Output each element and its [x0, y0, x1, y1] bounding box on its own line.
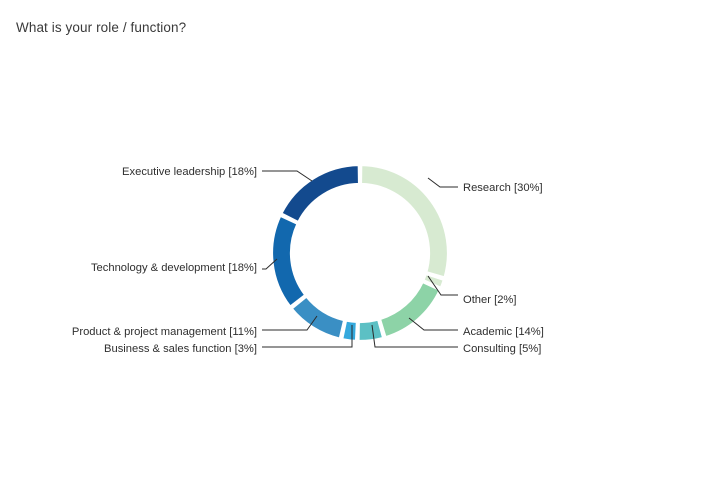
leader-line [428, 178, 458, 187]
donut-chart-svg: Research [30%]Other [2%]Academic [14%]Co… [0, 0, 720, 480]
donut-chart: Research [30%]Other [2%]Academic [14%]Co… [0, 0, 720, 480]
donut-slice[interactable] [281, 165, 359, 222]
leader-line [262, 171, 312, 181]
slice-label: Research [30%] [463, 182, 543, 194]
donut-slice[interactable] [380, 282, 440, 337]
slice-label: Other [2%] [463, 294, 516, 306]
slice-label: Technology & development [18%] [91, 262, 257, 274]
donut-slice[interactable] [361, 165, 448, 277]
donut-slices [272, 165, 448, 341]
slice-label: Executive leadership [18%] [122, 166, 257, 178]
slice-label: Product & project management [11%] [72, 326, 257, 338]
donut-slice[interactable] [358, 320, 383, 341]
slice-label: Academic [14%] [463, 326, 544, 338]
slice-label: Business & sales function [3%] [104, 343, 257, 355]
donut-slice[interactable] [292, 297, 344, 339]
donut-slice[interactable] [272, 216, 305, 307]
slice-label: Consulting [5%] [463, 343, 541, 355]
